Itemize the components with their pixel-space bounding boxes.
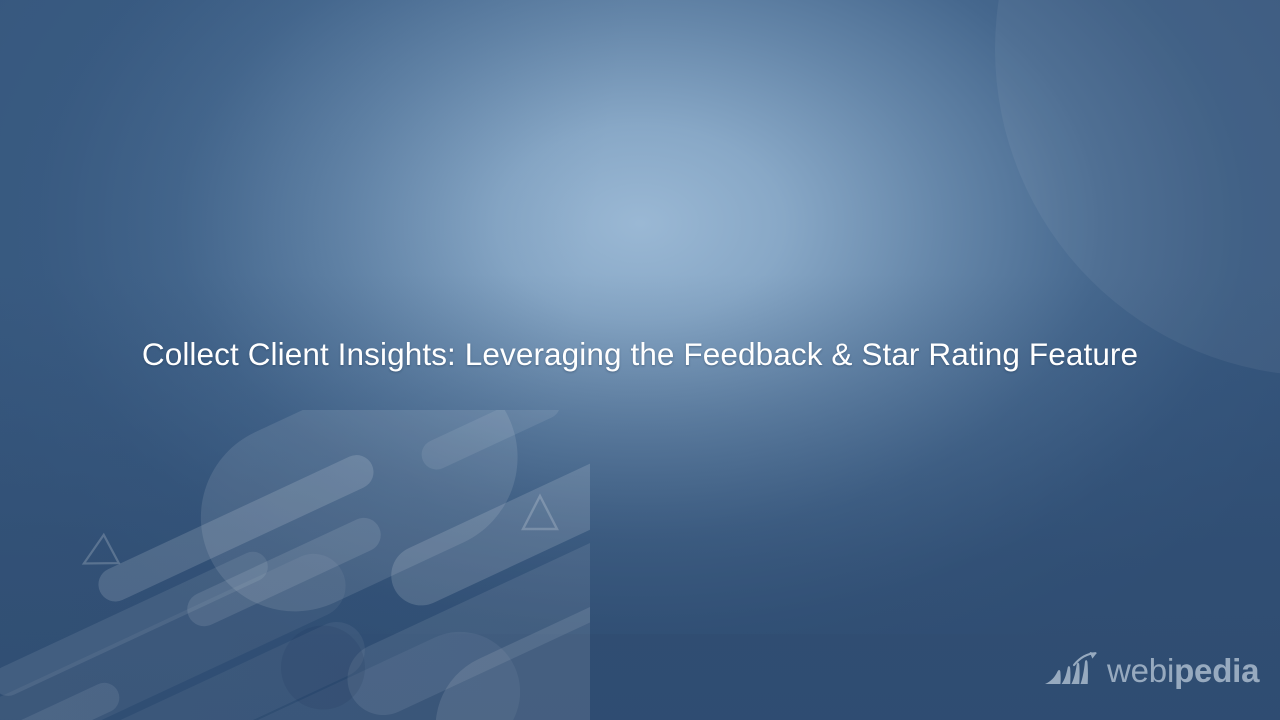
outline-triangle-up-icon <box>519 492 561 534</box>
slide-title-container: Collect Client Insights: Leveraging the … <box>0 335 1280 374</box>
logo-text-bold: pedia <box>1174 652 1259 689</box>
webipedia-arrow-mark-icon <box>1043 651 1101 689</box>
webipedia-logo-text: webipedia <box>1107 654 1259 687</box>
slide-canvas: Collect Client Insights: Leveraging the … <box>0 0 1280 720</box>
logo-text-light: webi <box>1107 652 1174 689</box>
page-title: Collect Client Insights: Leveraging the … <box>142 335 1138 374</box>
webipedia-logo: webipedia <box>1043 651 1259 689</box>
